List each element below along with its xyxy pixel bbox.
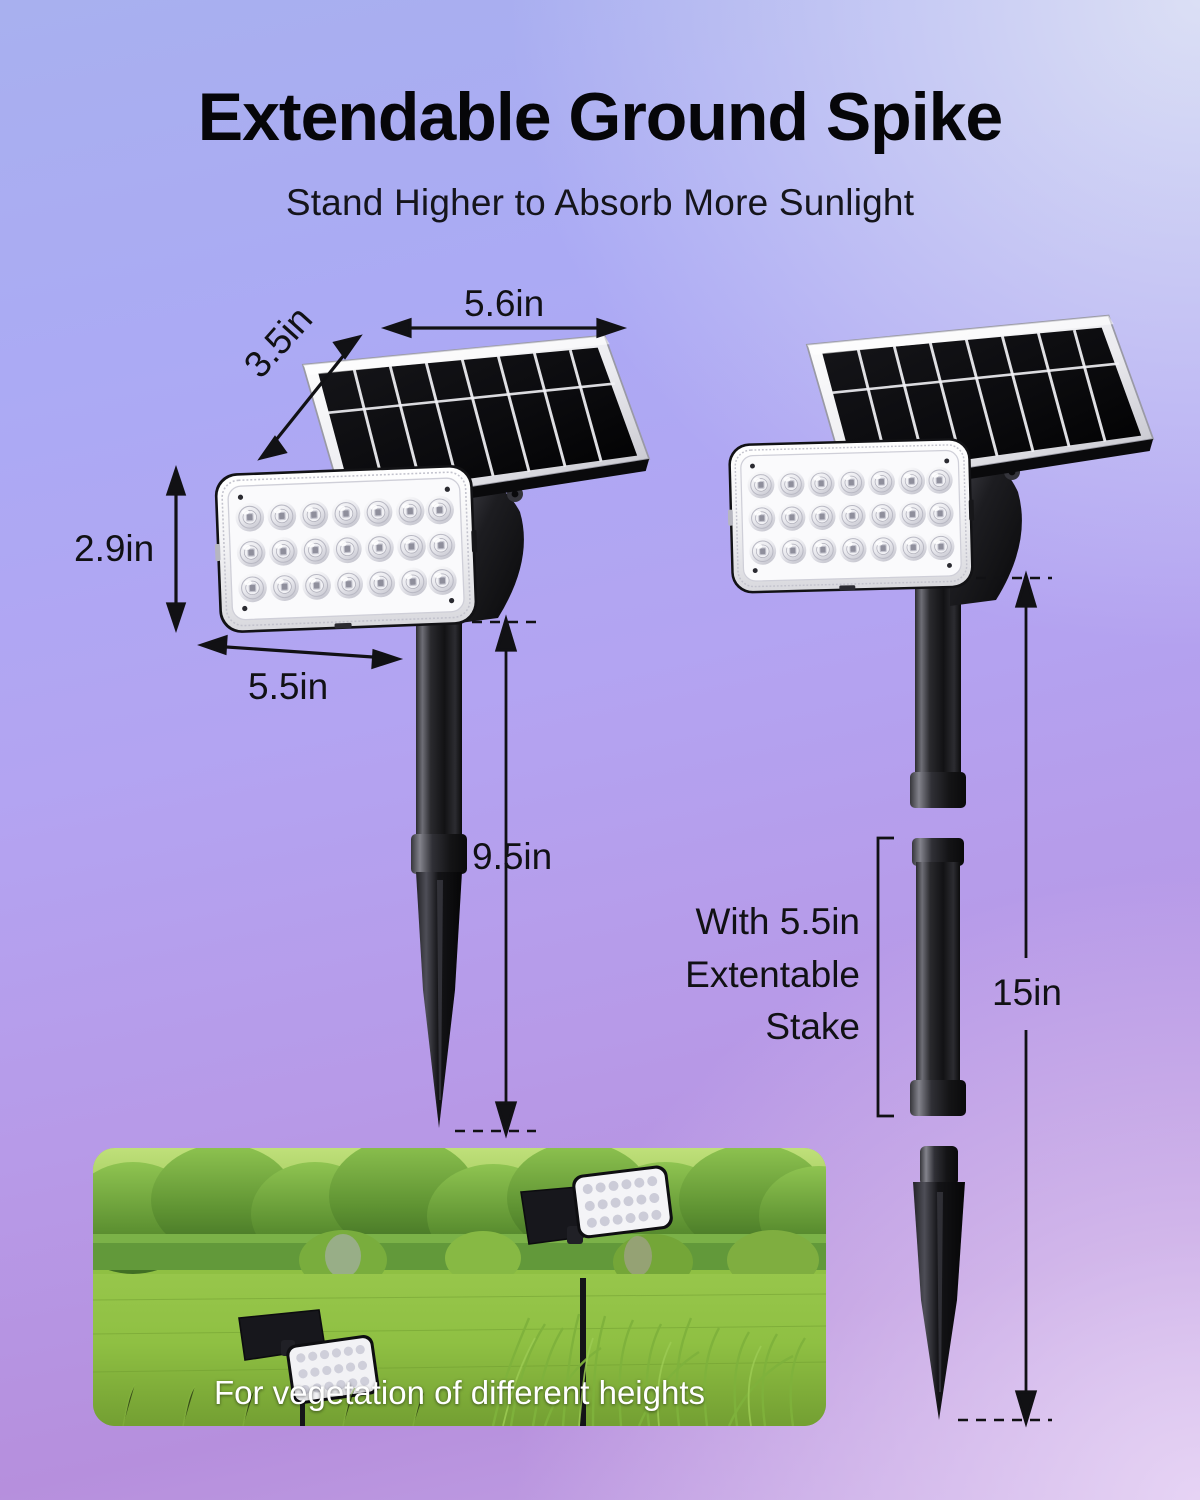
label-short-total: 9.5in (472, 836, 552, 878)
extension-note: With 5.5in Extentable Stake (600, 896, 860, 1054)
extension-tube-icon (910, 838, 966, 1116)
extension-note-line-3: Stake (600, 1001, 860, 1054)
extension-note-line-2: Extentable (600, 949, 860, 1002)
infographic-canvas: Extendable Ground Spike Stand Higher to … (0, 0, 1200, 1500)
ground-spike-icon-right-tip (913, 1146, 965, 1420)
label-tall-total: 15in (992, 972, 1062, 1014)
dimension-head-width (202, 637, 398, 667)
lifestyle-photo: For vegetation of different heights (93, 1148, 826, 1426)
dimension-head-height (168, 470, 184, 628)
ground-spike-icon-right-upper (910, 582, 966, 808)
photo-caption: For vegetation of different heights (93, 1374, 826, 1412)
led-head-icon-right (726, 438, 976, 594)
led-head-icon-left (212, 464, 481, 634)
label-panel-width: 5.6in (464, 283, 544, 325)
extension-note-line-1: With 5.5in (600, 896, 860, 949)
label-head-width: 5.5in (248, 666, 328, 708)
ground-spike-icon-left (411, 596, 467, 1128)
label-head-height: 2.9in (74, 528, 154, 570)
dimension-extension-bracket (878, 838, 894, 1116)
